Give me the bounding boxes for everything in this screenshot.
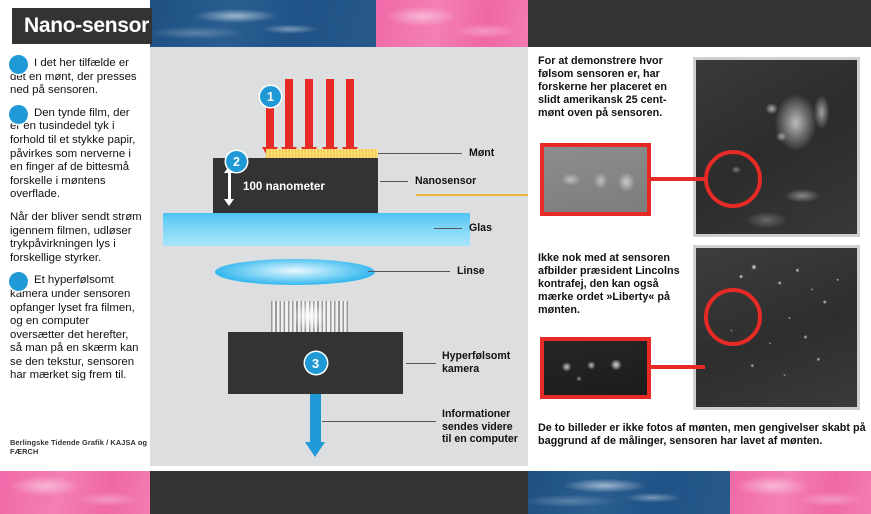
- highlight-circle-liberty-top: [704, 150, 762, 208]
- label-nanosensor: Nanosensor: [415, 175, 476, 188]
- label-lens: Linse: [457, 265, 485, 278]
- lincoln-texture: [696, 60, 857, 234]
- credit-line: Berlingske Tidende Grafik / KAJSA og FÆR…: [10, 438, 150, 456]
- glass-layer: [163, 213, 470, 246]
- coin-layer-top: [416, 194, 528, 196]
- label-output-line3: til en computer: [442, 433, 518, 445]
- bottom-strip-dark: [150, 471, 528, 514]
- pressure-arrow-2: [285, 79, 293, 160]
- coin-layer: [266, 149, 378, 158]
- top-strip-pink: [376, 0, 528, 47]
- connector-line-bottom: [651, 365, 705, 369]
- paragraph-2: 2 Den tynde film, der er en tusindedel t…: [10, 107, 142, 202]
- top-strip-dark: [528, 0, 871, 47]
- label-coin: Mønt: [469, 147, 494, 160]
- label-output-line1: Informationer: [442, 408, 510, 420]
- thickness-label: 100 nanometer: [243, 180, 325, 193]
- left-text-column: 1 I det her tilfælde er det en mønt, der…: [0, 47, 150, 466]
- leader-line-nanosensor: [380, 181, 408, 182]
- detail-bottom-texture: [544, 341, 647, 395]
- page-title-text: Nano-sensor: [24, 14, 149, 38]
- camera-block: 3: [228, 332, 403, 394]
- bottom-strip-blue: [528, 471, 730, 514]
- label-camera: Hyperfølsomt kamera: [442, 350, 510, 375]
- page-title: Nano-sensor: [12, 8, 152, 44]
- paragraph-4-text: Et hyperfølsomt kamera under sensoren op…: [10, 274, 139, 381]
- label-glass: Glas: [469, 222, 492, 235]
- label-output: Informationer sendes videre til en compu…: [442, 408, 518, 446]
- sensor-diagram: 1 100 nanometer 2 3: [150, 47, 528, 466]
- step-badge-1: 1: [9, 55, 28, 74]
- output-arrow: [310, 394, 321, 457]
- detail-top-texture: [544, 147, 647, 212]
- bottom-strip-pink-right: [730, 471, 871, 514]
- pressure-arrow-5: [346, 79, 354, 160]
- sensor-image-liberty: [693, 245, 860, 410]
- diagram-badge-3: 3: [305, 352, 327, 374]
- lens-ellipse: [215, 259, 375, 285]
- caption-bottom: De to billeder er ikke fotos af mønten, …: [538, 422, 868, 448]
- connector-line-top: [651, 177, 705, 181]
- diagram-badge-2: 2: [226, 151, 247, 172]
- leader-line-output: [322, 421, 436, 422]
- step-badge-3: 3: [9, 272, 28, 291]
- thickness-arrow-icon: [224, 166, 235, 206]
- highlight-circle-liberty-bottom: [704, 288, 762, 346]
- leader-line-coin: [378, 153, 462, 154]
- paragraph-1: 1 I det her tilfælde er det en mønt, der…: [10, 57, 142, 98]
- detail-thumbnail-top: [540, 143, 651, 216]
- detail-thumbnail-bottom: [540, 337, 651, 399]
- pressure-arrow-4: [326, 79, 334, 160]
- leader-line-lens: [368, 271, 450, 272]
- caption-top: For at demonstrere hvor følsom sensoren …: [538, 55, 688, 120]
- paragraph-4: 3 Et hyperfølsomt kamera under sensoren …: [10, 274, 142, 383]
- paragraph-3: Når der bliver sendt strøm igennem filme…: [10, 211, 142, 265]
- caption-middle: Ikke nok med at sensoren afbilder præsid…: [538, 252, 688, 317]
- label-camera-line1: Hyperfølsomt: [442, 350, 510, 362]
- paragraph-3-text: Når der bliver sendt strøm igennem filme…: [10, 211, 142, 264]
- infographic-root: Nano-sensor 1 I det her tilfælde er det …: [0, 0, 871, 514]
- bottom-strip-pink-left: [0, 471, 150, 514]
- label-output-line2: sendes videre: [442, 421, 513, 433]
- diagram-panel: 1 100 nanometer 2 3: [150, 47, 528, 466]
- diagram-badge-1: 1: [260, 86, 281, 107]
- leader-line-glass: [434, 228, 462, 229]
- pressure-arrow-3: [305, 79, 313, 160]
- light-grating: [271, 301, 348, 333]
- label-camera-line2: kamera: [442, 363, 479, 375]
- step-badge-2: 2: [9, 105, 28, 124]
- leader-line-camera: [406, 363, 436, 364]
- right-photo-column: For at demonstrere hvor følsom sensoren …: [528, 47, 871, 466]
- top-strip-blue: [150, 0, 376, 47]
- sensor-image-lincoln: [693, 57, 860, 237]
